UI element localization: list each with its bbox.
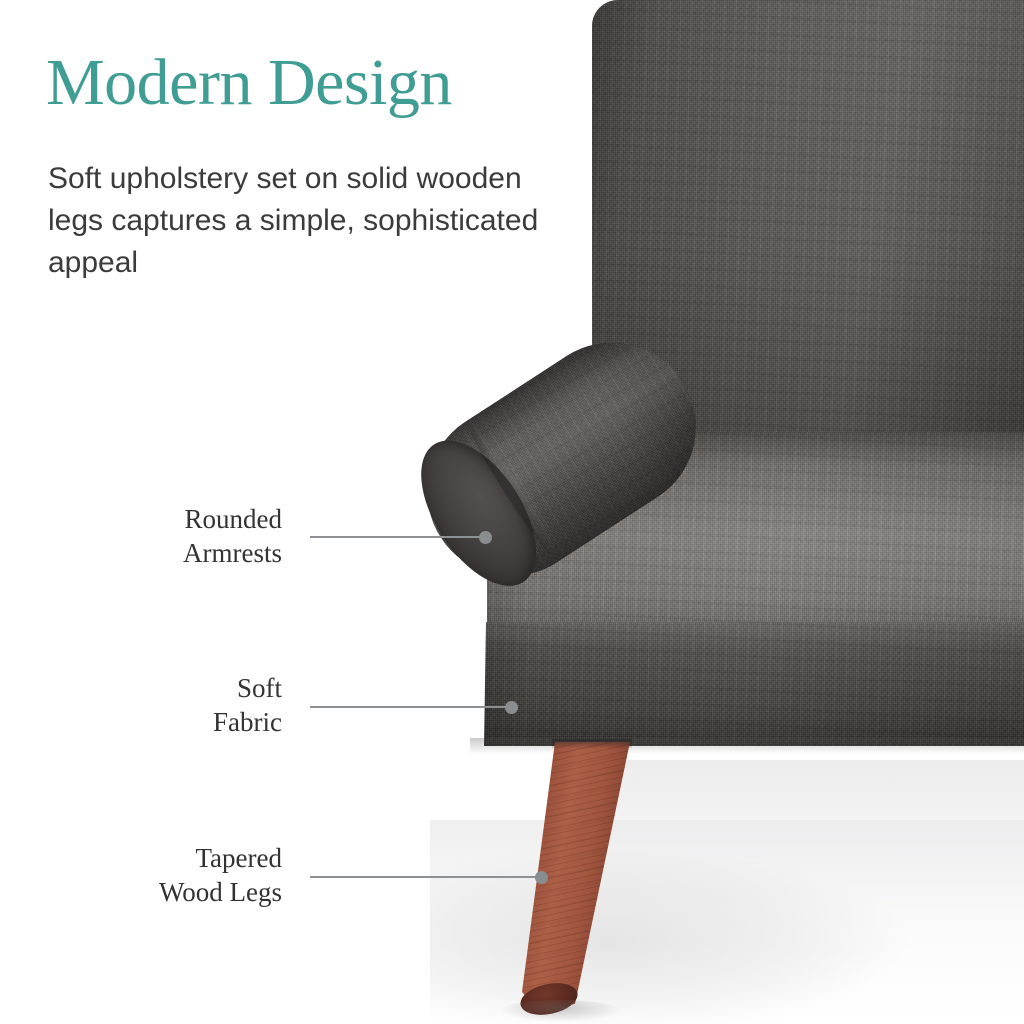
callout-leader-line-tapered-wood-legs — [310, 876, 542, 878]
callout-leader-dot-tapered-wood-legs — [535, 871, 548, 884]
callout-label-tapered-wood-legs: Tapered Wood Legs — [22, 841, 282, 909]
callout-label-rounded-armrests: Rounded Armrests — [42, 502, 282, 570]
callout-leader-dot-rounded-armrests — [479, 531, 492, 544]
page-subtitle: Soft upholstery set on solid wooden legs… — [48, 158, 578, 284]
page-title: Modern Design — [46, 47, 452, 119]
leg-top-joint — [552, 739, 632, 749]
callout-label-soft-fabric: Soft Fabric — [42, 671, 282, 739]
callout-leader-line-rounded-armrests — [310, 536, 486, 538]
leg-contact-shadow — [500, 1000, 620, 1022]
callout-leader-line-soft-fabric — [310, 706, 512, 708]
callout-leader-dot-soft-fabric — [505, 701, 518, 714]
product-feature-graphic: Modern Design Soft upholstery set on sol… — [0, 0, 1024, 1024]
